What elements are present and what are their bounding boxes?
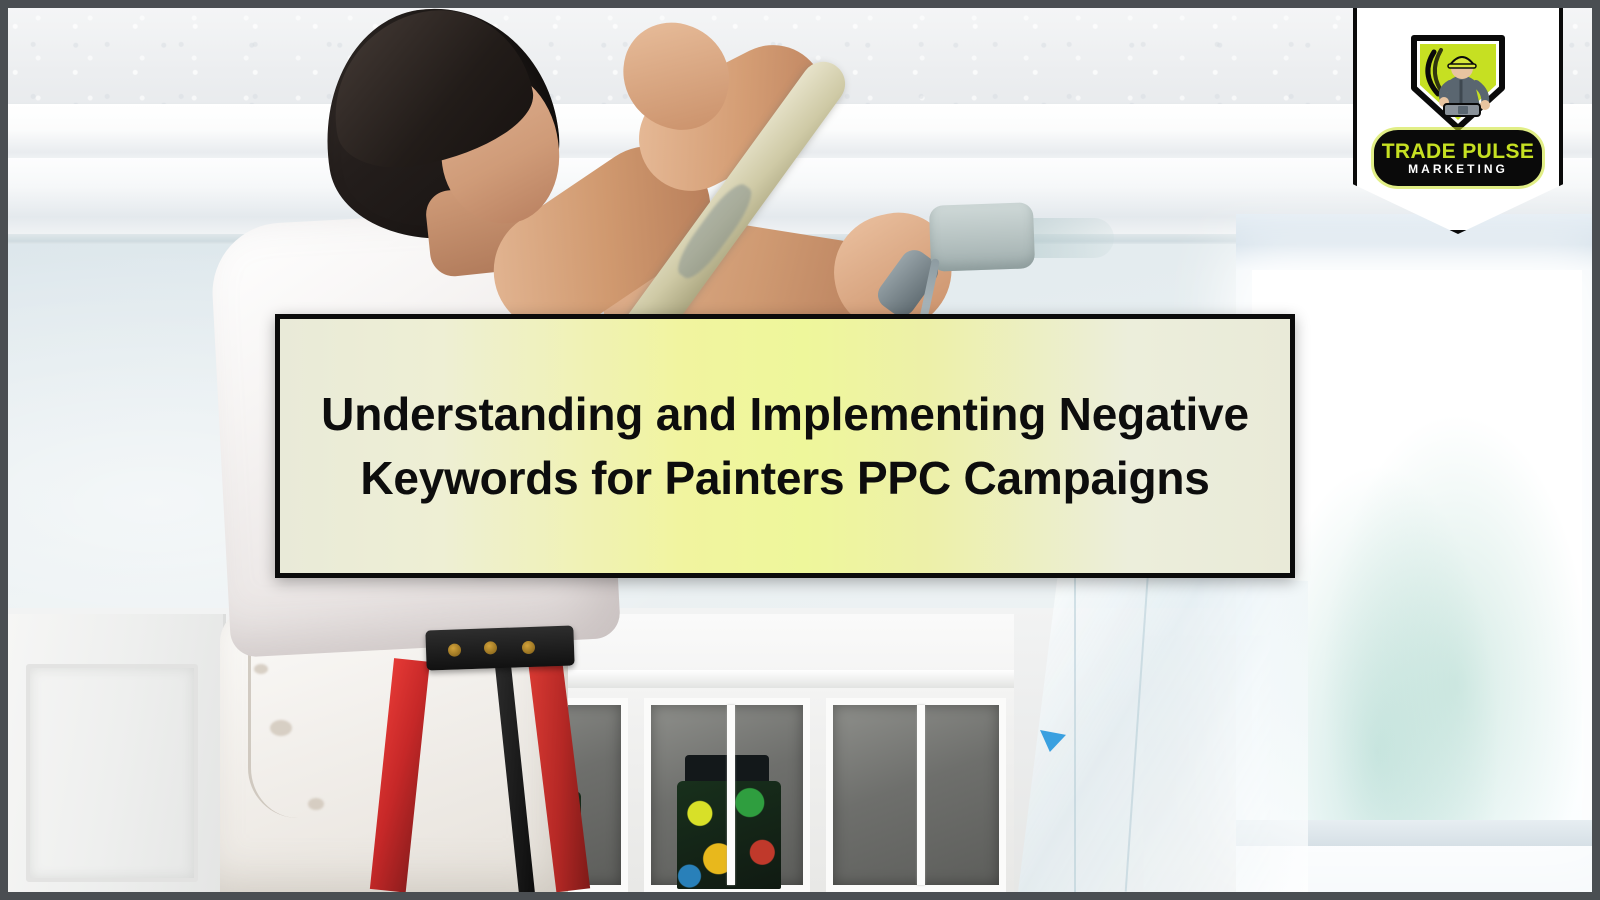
ladder-tool-hole	[448, 643, 461, 656]
wordmark-primary: TRADE PULSE	[1382, 141, 1535, 162]
paint-splatter	[270, 720, 292, 736]
ladder-top-tray	[425, 625, 574, 670]
wordmark-secondary: MARKETING	[1408, 163, 1508, 175]
photo-backdrop: Understanding and Implementing Negative …	[8, 8, 1592, 892]
paint-splatter	[254, 664, 268, 674]
ladder-tool-hole	[522, 641, 535, 654]
featured-image-banner: Understanding and Implementing Negative …	[0, 0, 1600, 900]
title-card: Understanding and Implementing Negative …	[275, 314, 1295, 578]
paint-roller-head	[929, 202, 1035, 272]
ladder-tool-hole	[484, 641, 497, 654]
brand-wordmark: TRADE PULSE MARKETING	[1374, 130, 1542, 186]
worker-shield-emblem	[1404, 32, 1512, 141]
paint-splatter	[308, 798, 324, 810]
pants-pocket	[248, 650, 366, 818]
page-title: Understanding and Implementing Negative …	[306, 382, 1264, 511]
